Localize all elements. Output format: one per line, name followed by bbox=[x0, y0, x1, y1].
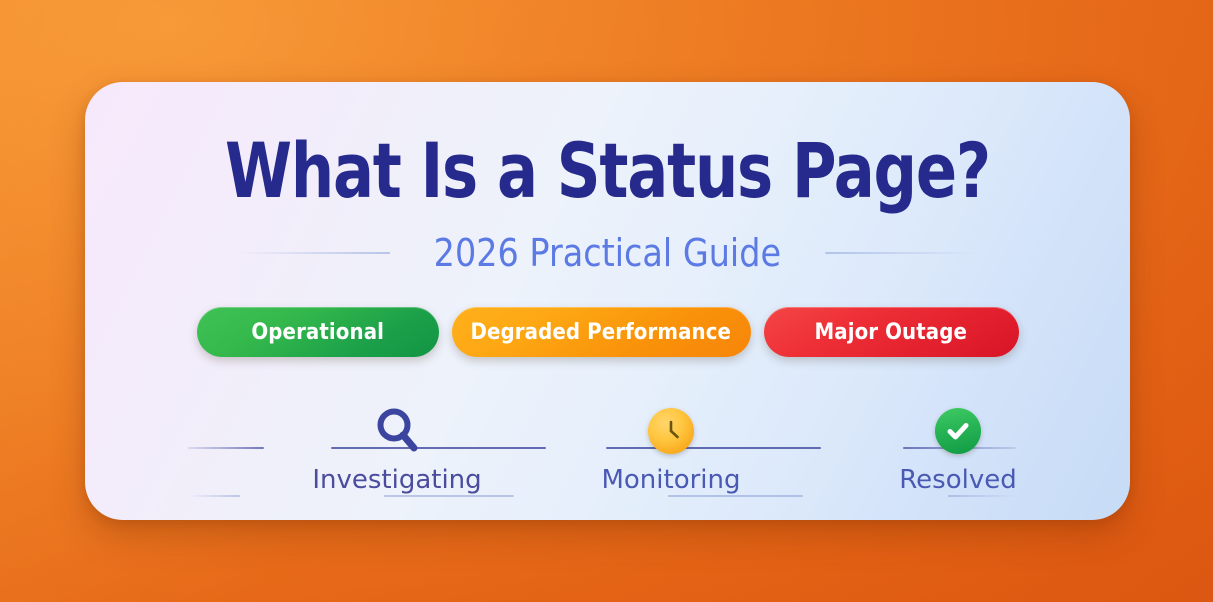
poster-background: What Is a Status Page? 2026 Practical Gu… bbox=[0, 0, 1213, 602]
timeline-connector-0 bbox=[188, 447, 264, 449]
timeline-step-resolved[interactable]: Resolved bbox=[858, 402, 1058, 495]
page-title: What Is a Status Page? bbox=[190, 129, 1026, 213]
status-pill-operational-label: Operational bbox=[251, 320, 384, 345]
timeline-label-rule-2 bbox=[668, 495, 803, 497]
subtitle-rule-left bbox=[238, 252, 390, 254]
timeline-step-monitoring-label: Monitoring bbox=[571, 465, 771, 495]
incident-timeline: Investigating Monitoring bbox=[188, 402, 1016, 500]
timeline-step-investigating-label: Investigating bbox=[297, 465, 497, 495]
timeline-label-rule-0 bbox=[188, 495, 240, 497]
timeline-step-investigating[interactable]: Investigating bbox=[297, 402, 497, 495]
status-pill-outage[interactable]: Major Outage bbox=[764, 307, 1019, 357]
subtitle-row: 2026 Practical Guide bbox=[85, 230, 1130, 276]
check-circle-icon bbox=[858, 402, 1058, 460]
page-subtitle: 2026 Practical Guide bbox=[434, 231, 781, 275]
status-page-card: What Is a Status Page? 2026 Practical Gu… bbox=[85, 82, 1130, 520]
timeline-step-resolved-label: Resolved bbox=[858, 465, 1058, 495]
status-pill-operational[interactable]: Operational bbox=[197, 307, 439, 357]
subtitle-rule-right bbox=[825, 252, 977, 254]
status-pill-degraded-label: Degraded Performance bbox=[471, 320, 732, 345]
status-pill-outage-label: Major Outage bbox=[815, 320, 968, 345]
magnifier-icon bbox=[297, 402, 497, 460]
timeline-label-rule-1 bbox=[384, 495, 514, 497]
timeline-label-rule-3 bbox=[948, 495, 1016, 497]
timeline-step-monitoring[interactable]: Monitoring bbox=[571, 402, 771, 495]
clock-icon bbox=[571, 402, 771, 460]
status-pill-degraded[interactable]: Degraded Performance bbox=[452, 307, 751, 357]
status-pill-row: Operational Degraded Performance Major O… bbox=[85, 306, 1130, 358]
